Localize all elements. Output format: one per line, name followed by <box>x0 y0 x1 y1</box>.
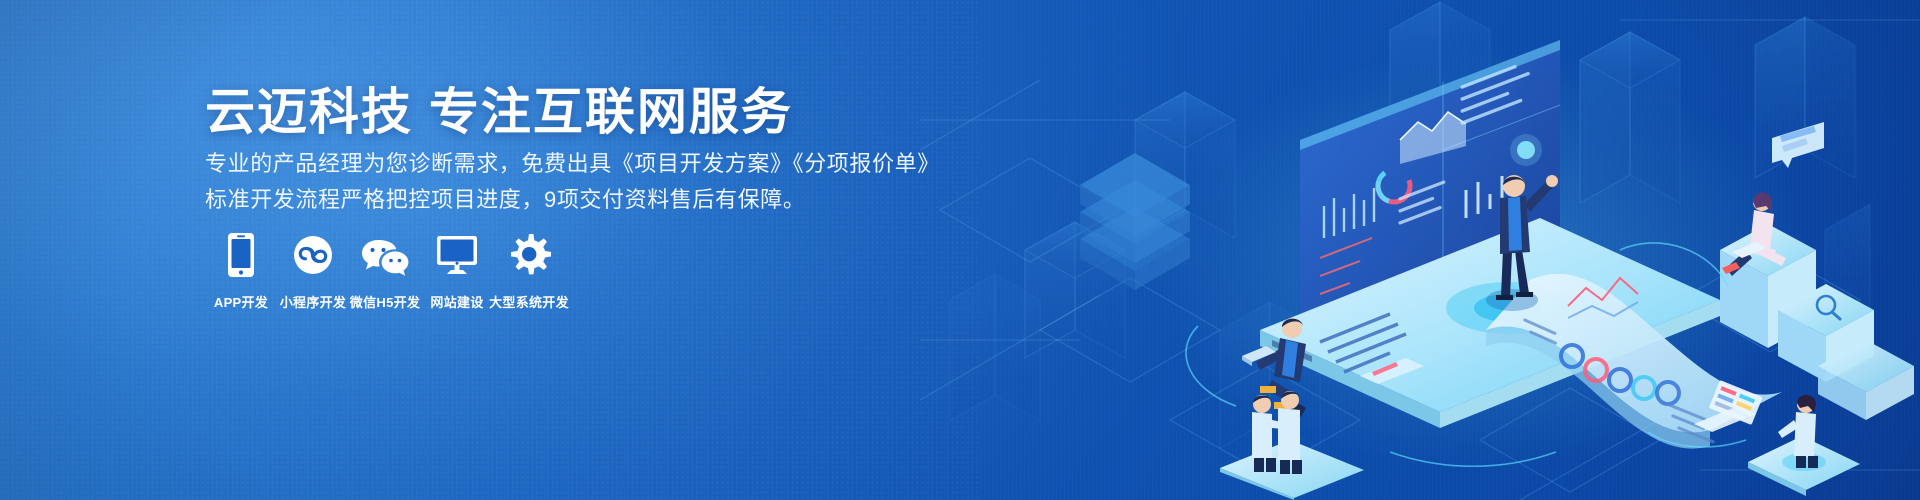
service-item-app[interactable]: APP开发 <box>205 232 277 311</box>
mini-program-icon <box>292 232 334 278</box>
person-on-platform <box>1748 395 1860 496</box>
page-title: 云迈科技 专注互联网服务 <box>205 72 793 144</box>
service-label-wechat: 微信H5开发 <box>350 292 420 311</box>
service-label-miniprogram: 小程序开发 <box>280 292 347 311</box>
monitor-icon <box>435 232 479 278</box>
subtitle-line-1: 专业的产品经理为您诊断需求，免费出具《项目开发方案》《分项报价单》 <box>205 146 940 178</box>
service-item-website[interactable]: 网站建设 <box>421 232 493 311</box>
hero-content: 云迈科技 专注互联网服务 专业的产品经理为您诊断需求，免费出具《项目开发方案》《… <box>205 0 965 500</box>
service-item-system[interactable]: 大型系统开发 <box>493 232 565 311</box>
service-label-system: 大型系统开发 <box>489 292 569 311</box>
service-label-app: APP开发 <box>214 292 268 311</box>
mobile-phone-icon <box>226 232 256 278</box>
service-item-wechat[interactable]: 微信H5开发 <box>349 232 421 311</box>
hero-illustration <box>920 0 1920 500</box>
gear-icon <box>507 232 551 278</box>
service-item-miniprogram[interactable]: 小程序开发 <box>277 232 349 311</box>
service-list: APP开发 小程序开发 <box>205 232 565 311</box>
wechat-icon <box>361 232 409 278</box>
service-label-website: 网站建设 <box>430 292 483 311</box>
subtitle-line-2: 标准开发流程严格把控项目进度，9项交付资料售后有保障。 <box>205 182 805 214</box>
hero-banner: 云迈科技 专注互联网服务 专业的产品经理为您诊断需求，免费出具《项目开发方案》《… <box>0 0 1920 500</box>
